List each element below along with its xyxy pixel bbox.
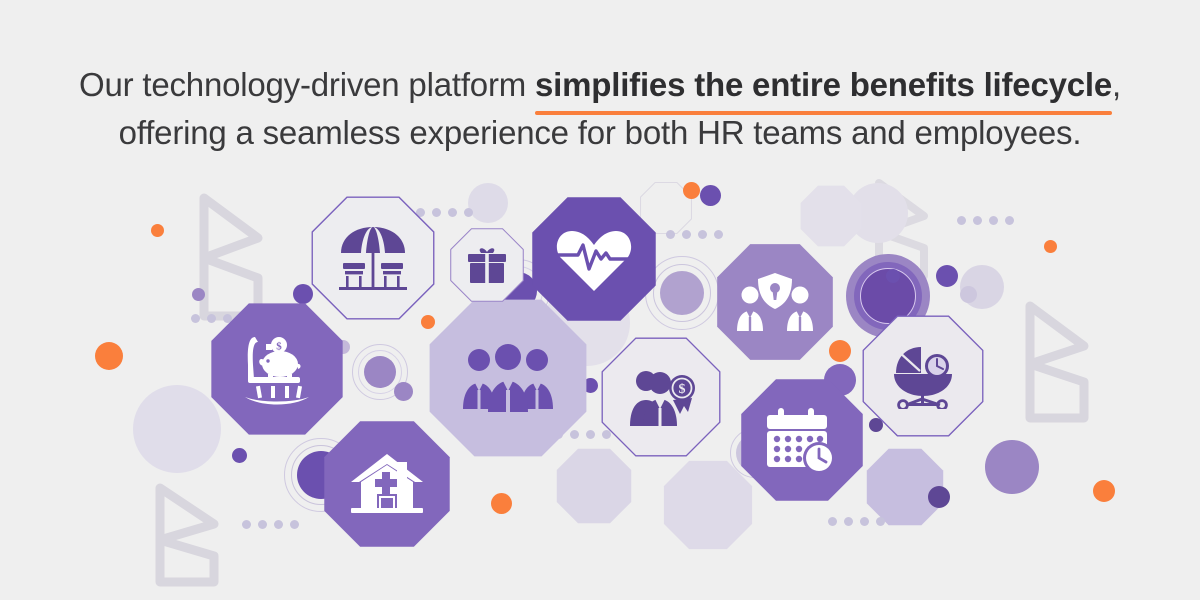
accent-dot-purple (886, 269, 900, 283)
accent-dot-purple (192, 288, 205, 301)
icon-tile-team-group[interactable] (428, 298, 588, 458)
accent-dot-purple (960, 286, 977, 303)
people-group-icon (461, 343, 555, 413)
rocking-chair-piggy-bank-icon: $ (235, 331, 319, 407)
accent-dot-orange (95, 342, 123, 370)
icon-tile-gift-rewards[interactable] (450, 228, 524, 302)
accent-dot-purple (700, 185, 721, 206)
icon-tile-medical-coverage[interactable] (323, 420, 451, 548)
beach-umbrella-icon (337, 225, 409, 291)
page-title: Our technology-driven platform simplifie… (0, 62, 1200, 156)
accent-dot-purple (936, 265, 958, 287)
family-shield-icon (736, 271, 814, 333)
icon-tile-family-protection[interactable] (716, 243, 834, 361)
svg-text:$: $ (276, 341, 282, 353)
icon-tile-parental-leave[interactable] (862, 315, 984, 437)
baby-stroller-clock-icon (890, 343, 956, 409)
dot-row-decoration (957, 216, 1014, 225)
bowtie-decoration-icon (1022, 298, 1094, 426)
hero-banner: $ $ (0, 0, 1200, 600)
headline-line-1: Our technology-driven platform simplifie… (0, 62, 1200, 110)
background-circle (468, 183, 508, 223)
accent-dot-purple (232, 448, 247, 463)
hospital-house-cross-icon (349, 452, 425, 516)
accent-dot-orange (1093, 480, 1115, 502)
headline-prefix: Our technology-driven platform (79, 66, 535, 103)
accent-dot-orange (151, 224, 164, 237)
headline-line-2: offering a seamless experience for both … (0, 110, 1200, 156)
accent-dot-purple (394, 382, 413, 401)
dot-row-decoration (242, 520, 299, 529)
heart-pulse-icon (556, 225, 632, 293)
icon-tile-health-heartbeat[interactable] (531, 196, 657, 322)
accent-dot-orange (1044, 240, 1057, 253)
dot-row-decoration (666, 230, 723, 239)
background-octagon (556, 448, 632, 524)
calendar-clock-icon (765, 406, 839, 474)
icon-tile-bonus-compensation[interactable]: $ (601, 337, 721, 457)
headline-emphasis: simplifies the entire benefits lifecycle (535, 62, 1112, 110)
background-circle (133, 385, 221, 473)
gift-box-icon (466, 245, 508, 285)
headline-suffix: , (1112, 66, 1121, 103)
accent-dot-purple (293, 284, 313, 304)
accent-dot-orange (683, 182, 700, 199)
employee-dollar-award-icon: $ (624, 366, 698, 428)
accent-dot-purple (928, 486, 950, 508)
bowtie-decoration-icon (152, 480, 224, 590)
icon-tile-time-off-scheduling[interactable] (740, 378, 864, 502)
svg-text:$: $ (679, 382, 686, 397)
dot-row-decoration (828, 517, 885, 526)
accent-dot-orange (491, 493, 512, 514)
background-circle (985, 440, 1039, 494)
background-octagon-outline (800, 185, 862, 247)
icon-tile-retirement-savings[interactable]: $ (210, 302, 344, 436)
